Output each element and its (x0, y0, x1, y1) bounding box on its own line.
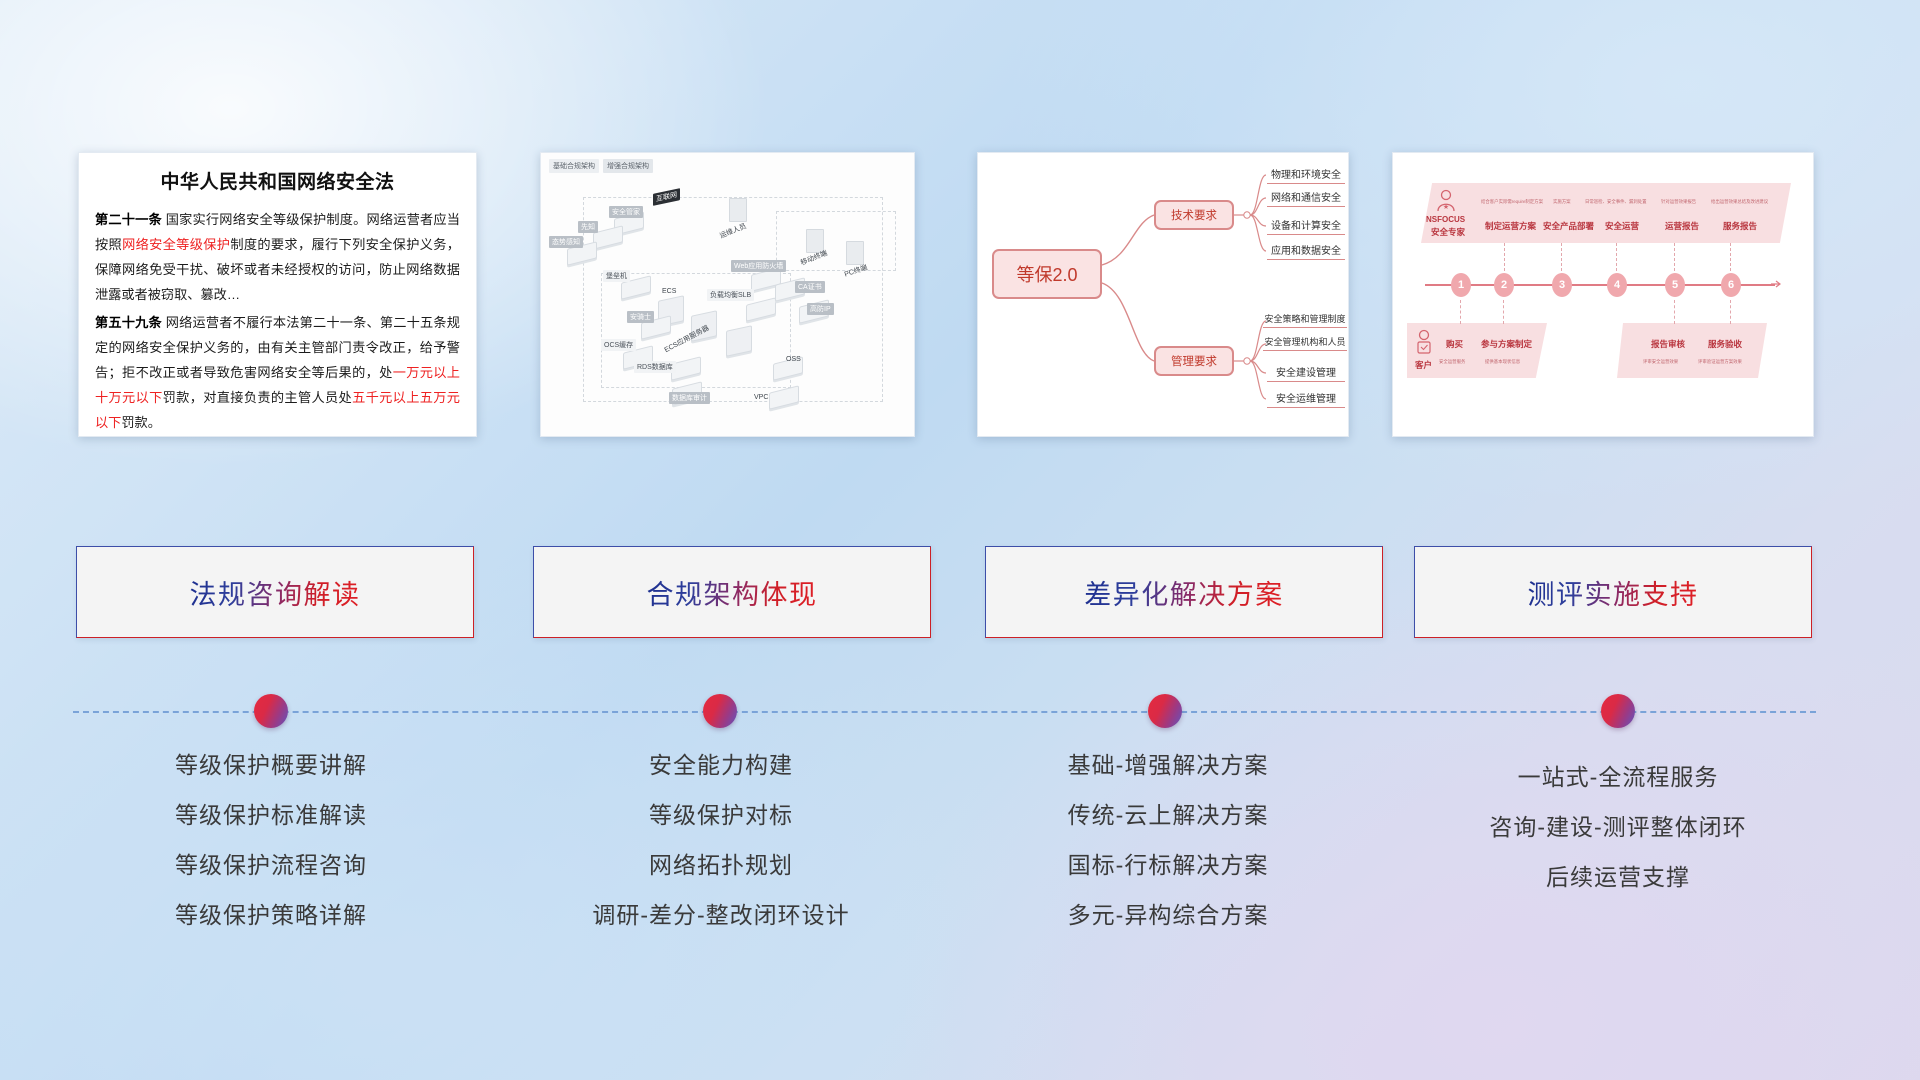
connector-top-3 (1561, 243, 1562, 271)
bottom-caption-2: 提供基本现状信息 (1485, 359, 1520, 365)
bottom-title-3: 报告审核 (1651, 338, 1685, 350)
bottom-title-4: 服务验收 (1708, 338, 1742, 350)
label-vpc: VPC (751, 393, 771, 402)
architecture-diagram: 基础合规架构 增强合规架构 互联网 安全管家 先知 态势感知 堡垒机 ECS (541, 153, 914, 436)
svg-text:★: ★ (1443, 203, 1449, 211)
label-waf: Web应用防火墙 (731, 260, 786, 272)
connector-top-6 (1730, 243, 1731, 271)
mindmap-leaf-mgmt-1: 安全策略和管理制度 (1263, 312, 1347, 328)
list-item: 调研-差分-整改闭环设计 (521, 890, 921, 940)
timeline-dot-3[interactable] (1148, 694, 1182, 728)
list-item: 国标-行标解决方案 (968, 840, 1368, 890)
detail-list-2: 安全能力构建 等级保护对标 网络拓扑规划 调研-差分-整改闭环设计 (521, 740, 921, 940)
label-rds: RDS数据库 (634, 361, 676, 373)
connector-bottom-2 (1503, 300, 1504, 324)
list-item: 一站式-全流程服务 (1418, 752, 1818, 802)
list-item: 等级保护标准解读 (71, 790, 471, 840)
timeline (0, 694, 1920, 730)
list-item: 传统-云上解决方案 (968, 790, 1368, 840)
bottom-caption-1: 安全运营服务 (1439, 359, 1465, 365)
law-title: 中华人民共和国网络安全法 (95, 167, 460, 194)
tab-basic-architecture[interactable]: 基础合规架构 (549, 159, 599, 173)
card-cybersecurity-law[interactable]: 中华人民共和国网络安全法 第二十一条 国家实行网络安全等级保护制度。网络运营者应… (78, 152, 477, 437)
timeline-dot-4[interactable] (1601, 694, 1635, 728)
mindmap: 等保2.0 技术要求 管理要求 物理和环境安全 网络和通信安全 设备和计算安全 … (978, 153, 1348, 436)
list-item: 多元-异构综合方案 (968, 890, 1368, 940)
top-caption-2: 实施方案 (1553, 199, 1571, 205)
top-title-1: 制定运营方案 (1485, 220, 1536, 232)
thumbnail-card-row: 中华人民共和国网络安全法 第二十一条 国家实行网络安全等级保护制度。网络运营者应… (0, 152, 1920, 442)
label-situation-awareness: 态势感知 (549, 236, 583, 248)
top-title-2: 安全产品部署 (1543, 220, 1594, 232)
icon-ecs-group-chip-2 (726, 325, 752, 357)
label-ecs: ECS (659, 287, 679, 296)
detail-list-1: 等级保护概要讲解 等级保护标准解读 等级保护流程咨询 等级保护策略详解 (71, 740, 471, 940)
label-high-defense-ip: 高防IP (807, 303, 834, 315)
icon-vpc-chip (769, 385, 799, 409)
label-oss: OSS (783, 355, 804, 364)
band-customer-lane-right (1617, 323, 1767, 378)
process-step-dot-5[interactable]: 5 (1665, 273, 1685, 297)
label-safe-knight: 安骑士 (627, 311, 654, 323)
mindmap-leaf-tech-4: 应用和数据安全 (1267, 242, 1345, 260)
top-caption-4: 针对运营效果报告 (1661, 199, 1696, 205)
bottom-caption-3: 评审安全运营效果 (1643, 359, 1678, 365)
law-article-59: 第五十九条 网络运营者不履行本法第二十一条、第二十五条规定的网络安全保护义务的，… (95, 310, 460, 435)
top-title-5: 服务报告 (1723, 220, 1757, 232)
process-step-dot-1[interactable]: 1 (1451, 273, 1471, 297)
expert-avatar-icon: ★ (1435, 189, 1457, 215)
bottom-title-2: 参与方案制定 (1481, 338, 1532, 350)
article-59-text-c: 罚款。 (121, 415, 161, 430)
label-slb: 负载均衡SLB (707, 289, 754, 301)
article-59-text-b: 罚款，对直接负责的主管人员处 (163, 390, 352, 405)
customer-role: 客户 (1415, 359, 1432, 371)
section-title-box-3[interactable]: 差异化解决方案 (985, 546, 1383, 638)
top-caption-3: 日常巡检、安全事件、漏洞处置 (1585, 199, 1646, 205)
connector-top-5 (1674, 243, 1675, 271)
bottom-title-1: 购买 (1446, 338, 1463, 350)
list-item: 等级保护对标 (521, 790, 921, 840)
axis-arrow-icon (1771, 278, 1783, 290)
timeline-dot-2[interactable] (703, 694, 737, 728)
label-security-butler: 安全管家 (609, 206, 643, 218)
top-caption-5: 给出运营效果总结及改进建议 (1711, 199, 1768, 205)
architecture-tabs: 基础合规架构 增强合规架构 (549, 159, 653, 173)
section-title-label-3: 差异化解决方案 (1084, 573, 1284, 612)
expert-name: NSFOCUS (1426, 215, 1465, 224)
list-item: 安全能力构建 (521, 740, 921, 790)
list-item: 等级保护策略详解 (71, 890, 471, 940)
detail-list-3: 基础-增强解决方案 传统-云上解决方案 国标-行标解决方案 多元-异构综合方案 (968, 740, 1368, 940)
card-mindmap-dengbao[interactable]: 等保2.0 技术要求 管理要求 物理和环境安全 网络和通信安全 设备和计算安全 … (977, 152, 1349, 437)
list-item: 基础-增强解决方案 (968, 740, 1368, 790)
connector-bottom-6 (1730, 300, 1731, 324)
zone-endpoints (776, 211, 896, 271)
connector-bottom-1 (1460, 300, 1461, 324)
top-title-4: 运营报告 (1665, 220, 1699, 232)
tab-enhanced-architecture[interactable]: 增强合规架构 (603, 159, 653, 173)
bottom-caption-4: 评审验证运营方案效果 (1698, 359, 1742, 365)
connector-bottom-5 (1674, 300, 1675, 324)
label-ca-cert: CA证书 (795, 281, 825, 293)
list-item: 网络拓扑规划 (521, 840, 921, 890)
law-article-21: 第二十一条 国家实行网络安全等级保护制度。网络运营者应当按照网络安全等级保护制度… (95, 207, 460, 307)
timeline-dashed-line (73, 711, 1816, 713)
top-caption-1: 结合客户实际需require制定方案 (1481, 199, 1543, 205)
process-step-dot-4[interactable]: 4 (1607, 273, 1627, 297)
process-step-dot-3[interactable]: 3 (1552, 273, 1572, 297)
article-21-label: 第二十一条 (95, 212, 162, 227)
article-59-label: 第五十九条 (95, 315, 162, 330)
mindmap-leaf-mgmt-2: 安全管理机构和人员 (1263, 335, 1347, 351)
connector-top-4 (1616, 243, 1617, 271)
process-step-dot-2[interactable]: 2 (1494, 273, 1514, 297)
label-bastion-host: 堡垒机 (603, 270, 630, 282)
section-title-label-4: 测评实施支持 (1528, 573, 1699, 612)
mindmap-branch-technical[interactable]: 技术要求 (1154, 200, 1234, 230)
section-title-label-2: 合规架构体现 (647, 573, 818, 612)
mindmap-leaf-mgmt-4: 安全运维管理 (1267, 390, 1345, 408)
label-xianzhi: 先知 (578, 221, 598, 233)
label-db-audit: 数据库审计 (669, 392, 710, 404)
list-item: 咨询-建设-测评整体闭环 (1418, 802, 1818, 852)
mindmap-leaf-tech-2: 网络和通信安全 (1267, 189, 1345, 207)
icon-ops-user-server (729, 198, 747, 222)
mindmap-branch-management[interactable]: 管理要求 (1154, 346, 1234, 376)
section-title-box-4[interactable]: 测评实施支持 (1414, 546, 1812, 638)
expert-role: 安全专家 (1431, 226, 1465, 238)
article-21-highlight: 网络安全等级保护 (122, 237, 230, 252)
mindmap-leaf-tech-1: 物理和环境安全 (1267, 166, 1345, 184)
section-title-box-1[interactable]: 法规咨询解读 (76, 546, 474, 638)
band-expert-lane (1421, 183, 1791, 243)
detail-list-row: 等级保护概要讲解 等级保护标准解读 等级保护流程咨询 等级保护策略详解 安全能力… (0, 740, 1920, 960)
label-ocs-cache: OCS缓存 (601, 339, 636, 351)
mindmap-leaf-tech-3: 设备和计算安全 (1267, 217, 1345, 235)
card-compliance-architecture[interactable]: 基础合规架构 增强合规架构 互联网 安全管家 先知 态势感知 堡垒机 ECS (540, 152, 915, 437)
list-item: 后续运营支撑 (1418, 852, 1818, 902)
connector-top-2 (1504, 243, 1505, 271)
mindmap-root-node[interactable]: 等保2.0 (992, 249, 1102, 299)
card-nsfocus-process[interactable]: ★ NSFOCUS 安全专家 结合客户实际需require制定方案 制定运营方案… (1392, 152, 1814, 437)
list-item: 等级保护概要讲解 (71, 740, 471, 790)
section-title-box-2[interactable]: 合规架构体现 (533, 546, 931, 638)
top-title-3: 安全运营 (1605, 220, 1639, 232)
timeline-dot-1[interactable] (254, 694, 288, 728)
process-step-dot-6[interactable]: 6 (1721, 273, 1741, 297)
customer-avatar-icon (1414, 329, 1434, 359)
slide-canvas: 中华人民共和国网络安全法 第二十一条 国家实行网络安全等级保护制度。网络运营者应… (0, 0, 1920, 1080)
icon-pc-terminal (846, 241, 864, 265)
section-title-label-1: 法规咨询解读 (190, 573, 361, 612)
detail-list-4: 一站式-全流程服务 咨询-建设-测评整体闭环 后续运营支撑 (1418, 740, 1818, 902)
law-document: 中华人民共和国网络安全法 第二十一条 国家实行网络安全等级保护制度。网络运营者应… (79, 153, 476, 437)
nsfocus-process-diagram: ★ NSFOCUS 安全专家 结合客户实际需require制定方案 制定运营方案… (1393, 153, 1813, 436)
section-title-row: 法规咨询解读 合规架构体现 差异化解决方案 测评实施支持 (0, 546, 1920, 641)
mindmap-leaf-mgmt-3: 安全建设管理 (1267, 364, 1345, 382)
list-item: 等级保护流程咨询 (71, 840, 471, 890)
